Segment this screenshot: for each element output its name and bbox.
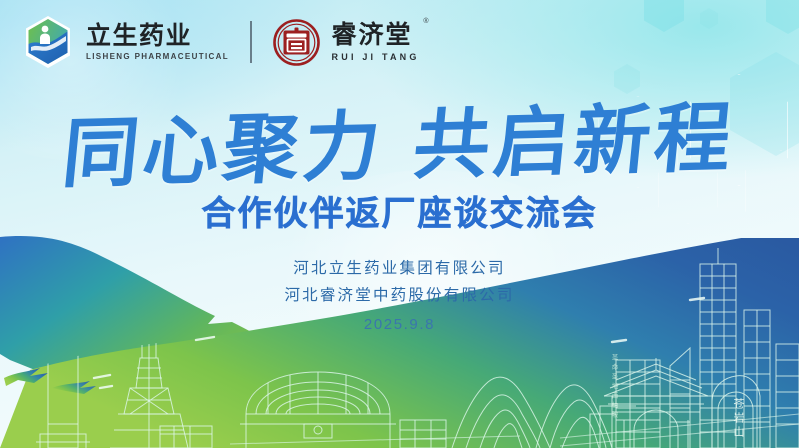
lisheng-hexagon-logo-icon [22, 14, 74, 70]
ruijitang-name-cn: 睿济堂 [332, 22, 420, 48]
cloud-dashes [94, 298, 704, 388]
organizer-list: 河北立生药业集团有限公司 河北睿济堂中药股份有限公司 [0, 256, 799, 309]
ruijitang-name-en: RUI JI TANG [332, 52, 420, 62]
stadium-dome [160, 372, 446, 448]
mountain-label-block [712, 376, 760, 448]
header-logo-bar: 立生药业 LISHENG PHARMACEUTICAL 睿济堂 RUI JI T… [22, 14, 420, 70]
mountain-range [452, 377, 612, 448]
logo-divider [250, 21, 252, 63]
podium-base [230, 414, 799, 446]
traditional-gate [604, 358, 708, 448]
monument-vertical-text: 革命圣地西柏坡 [608, 354, 618, 421]
organizer-line: 河北立生药业集团有限公司 [0, 256, 799, 283]
calligraphy-line-1: 同心聚力 [59, 101, 389, 198]
hero-subtitle: 合作伙伴返厂座谈交流会 [0, 186, 799, 235]
hero-calligraphy: 同心聚力共启新程 [0, 74, 799, 203]
lisheng-name-en: LISHENG PHARMACEUTICAL [86, 52, 229, 61]
hexagon-shape [644, 0, 684, 32]
lisheng-wordmark: 立生药业 LISHENG PHARMACEUTICAL [86, 16, 229, 68]
calligraphy-line-2: 共启新程 [410, 93, 740, 190]
brush-stroke-small [228, 398, 348, 444]
event-banner: 立生药业 LISHENG PHARMACEUTICAL 睿济堂 RUI JI T… [0, 0, 799, 448]
event-date: 2025.9.8 [0, 316, 799, 333]
hexagon-shape [700, 8, 718, 29]
hexagon-shape [766, 0, 799, 34]
organizer-line: 河北睿济堂中药股份有限公司 [0, 283, 799, 310]
ruijitang-wordmark: 睿济堂 RUI JI TANG ® [332, 17, 420, 67]
lisheng-name-cn: 立生药业 [86, 23, 229, 49]
registered-mark: ® [423, 18, 428, 25]
mountain-label-text: 苍岩山 [730, 398, 746, 440]
ruijitang-seal-icon [273, 19, 320, 66]
